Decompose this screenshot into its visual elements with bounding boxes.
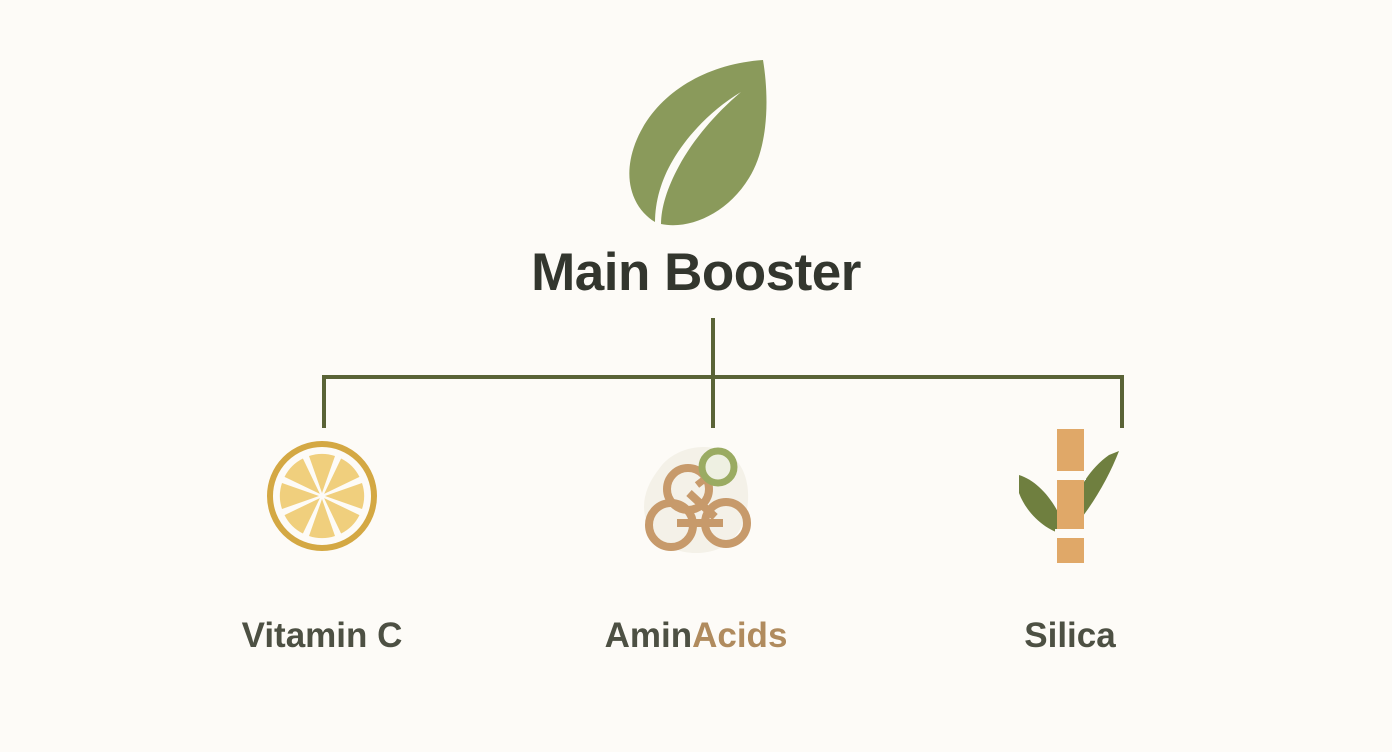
citrus-slice-icon <box>266 440 378 552</box>
child-icon-wrap <box>546 428 846 563</box>
child-icon-wrap <box>920 428 1220 563</box>
bamboo-icon <box>1005 423 1135 568</box>
root-node[interactable]: Main Booster <box>0 52 1392 299</box>
child-node-vitamin-c[interactable]: Vitamin C <box>172 428 472 653</box>
children-row: Vitamin C AminAcids <box>0 428 1392 653</box>
child-node-amino-acids[interactable]: AminAcids <box>546 428 846 653</box>
child-label-silica: Silica <box>920 618 1220 653</box>
child-label-vitamin-c: Vitamin C <box>172 618 472 653</box>
child-label-amino-acids: AminAcids <box>546 618 846 653</box>
child-icon-wrap <box>172 428 472 563</box>
diagram-canvas: Main Booster <box>0 0 1392 752</box>
child-label-amino-acids-suffix: Acids <box>692 616 787 655</box>
leaf-icon <box>611 52 781 232</box>
molecule-icon <box>631 431 761 561</box>
child-label-amino-acids-prefix: Amin <box>605 616 693 655</box>
child-node-silica[interactable]: Silica <box>920 428 1220 653</box>
root-title: Main Booster <box>0 246 1392 299</box>
